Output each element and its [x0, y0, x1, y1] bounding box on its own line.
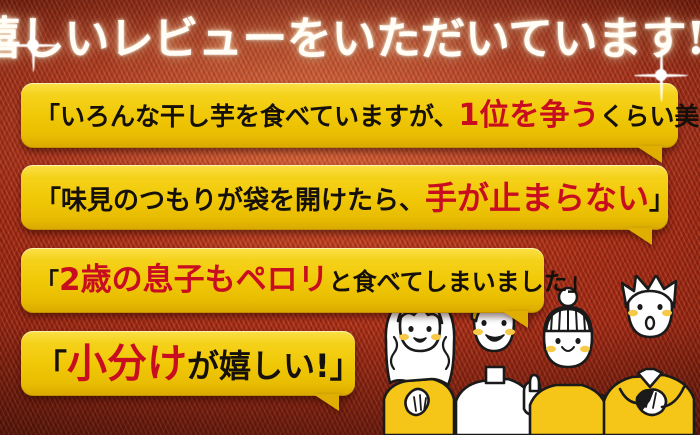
review-text-2: 「味見のつもりが袋を開けたら、手が止まらない」: [35, 182, 675, 214]
page-title: 嬉しいレビューをいただいています!!: [0, 2, 700, 74]
review-tail: と食べてしまいました: [329, 268, 568, 296]
review-lead: 味見のつもりが袋を開けたら、: [61, 186, 425, 216]
review-bubble-1: 「いろんな干し芋を食べていますが、1位を争うくらい美味しい!」: [21, 83, 678, 148]
open-quote: 「: [35, 347, 67, 385]
review-bubble-3: 「2歳の息子もペロリと食べてしまいました」: [21, 248, 544, 313]
review-lead: いろんな干し芋を食べていますが、: [60, 102, 459, 131]
review-text-1: 「いろんな干し芋を食べていますが、1位を争うくらい美味しい!」: [35, 101, 700, 131]
close-quote: 」: [568, 268, 592, 296]
review-text-3: 「2歳の息子もペロリと食べてしまいました」: [35, 265, 592, 296]
review-banner: 嬉しいレビューをいただいています!! 「いろんな干し芋を食べていますが、1位を争…: [0, 0, 700, 435]
character-woman-long-wavy-hair: [384, 294, 454, 435]
close-quote: 」: [649, 186, 675, 216]
headline-text: 嬉しいレビューをいただいています!!: [0, 16, 700, 61]
close-quote: 」: [330, 347, 362, 385]
review-tail: が嬉しい!: [187, 347, 330, 385]
review-highlight: 小分け: [67, 341, 187, 387]
review-highlight: 手が止まらない: [425, 179, 649, 217]
character-older-man-clapping: [604, 275, 694, 435]
review-highlight: 1位を争う: [459, 98, 600, 133]
open-quote: 「: [35, 186, 61, 216]
review-tail: くらい美味しい!: [599, 102, 700, 131]
review-bubble-2: 「味見のつもりが袋を開けたら、手が止まらない」: [21, 165, 668, 230]
review-highlight: 2歳の息子もペロリ: [59, 262, 329, 298]
review-text-4: 「小分けが嬉しい!」: [35, 344, 362, 384]
review-bubble-4: 「小分けが嬉しい!」: [21, 331, 355, 396]
open-quote: 「: [35, 102, 60, 131]
open-quote: 「: [35, 268, 59, 296]
